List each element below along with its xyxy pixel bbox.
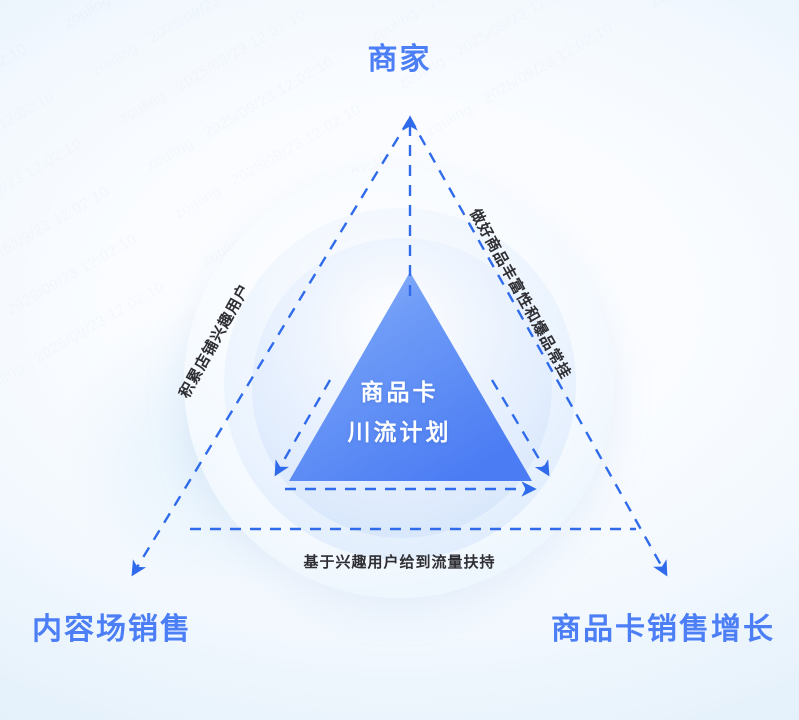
center-triangle-text: 商品卡 川流计划 [0, 372, 799, 452]
vertex-label-top: 商家 [0, 34, 799, 78]
vertex-label-bottom-right: 商品卡销售增长 [551, 604, 775, 648]
diagram-canvas: zouling · 2025/09/23 12:02:10zouling · 2… [0, 0, 799, 720]
vertex-label-bottom-left: 内容场销售 [32, 604, 192, 648]
center-text-line2: 川流计划 [0, 412, 799, 452]
edge-label-bottom: 基于兴趣用户给到流量扶持 [0, 551, 799, 572]
center-text-line1: 商品卡 [0, 372, 799, 412]
